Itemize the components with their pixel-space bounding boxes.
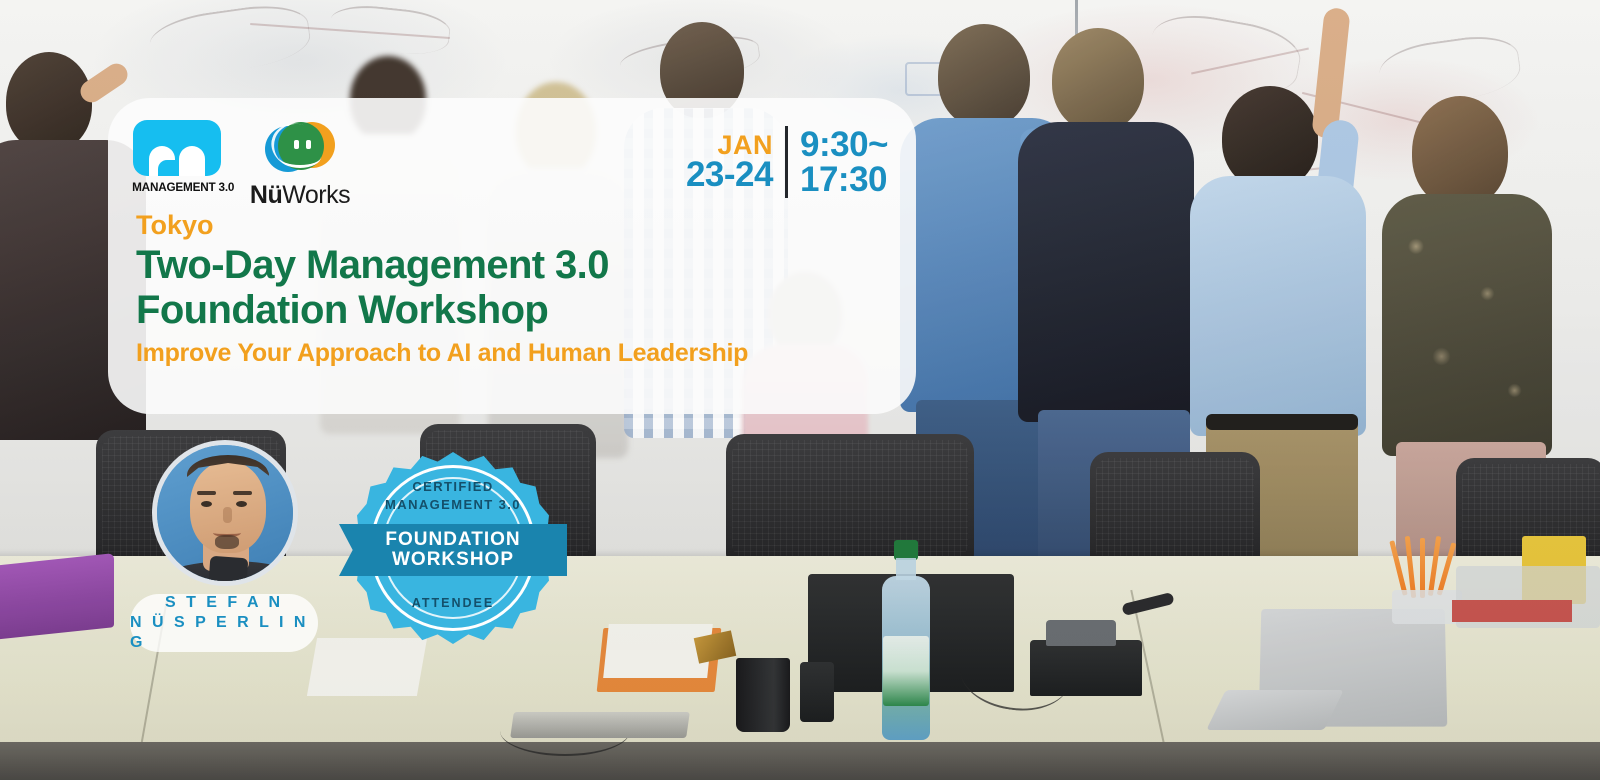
pen [1437,542,1457,595]
macbook-base [1206,690,1344,730]
coffee-mug [736,658,790,732]
event-title-line-1: Two-Day Management 3.0 [136,243,898,288]
office-chair [726,434,974,564]
person-head [938,24,1030,128]
management-30-wordmark: MANAGEMENT 3.0 [132,182,222,194]
certification-badge: CERTIFIED MANAGEMENT 3.0 FOUNDATION WORK… [357,452,549,644]
letter-m-glyph [149,142,205,176]
keyboard [510,712,690,738]
avatar-eye-right [236,501,247,507]
badge-top-text: CERTIFIED MANAGEMENT 3.0 [357,478,549,513]
event-start-time: 9:30~ [800,127,888,162]
avatar-collar [208,556,249,586]
badge-ribbon: FOUNDATION WORKSHOP [339,524,567,576]
red-folder [1452,600,1572,622]
bottle-cap [894,540,918,560]
nuworks-logo: NüWorks [245,120,355,208]
office-chair [1090,452,1260,570]
badge-certified-label: CERTIFIED [357,478,549,496]
avatar-eye-left [201,501,212,507]
avatar-goatee [215,535,239,549]
badge-attendee-label: ATTENDEE [357,596,549,610]
schedule-divider [785,126,788,198]
avatar-brow-right [233,491,252,495]
event-subtitle: Improve Your Approach to AI and Human Le… [136,339,898,368]
pen [1389,540,1407,596]
date-group: JAN 23-24 [686,132,773,193]
person-torso [1018,122,1194,422]
chair-mesh [1096,458,1254,564]
management-30-logo: MANAGEMENT 3.0 [133,120,221,194]
presenter-avatar [152,440,298,586]
avatar-brow-left [197,491,216,495]
presenter-first-name: S T E F A N [165,593,283,613]
power-adapter [1046,620,1116,646]
person-head [1052,28,1144,132]
nuworks-wordmark: NüWorks [245,183,355,208]
globe-smile [279,146,321,168]
nuworks-word-regular: Works [282,181,350,209]
person-belt [1206,414,1358,430]
person-head [1222,86,1318,190]
pen-cup [1390,536,1460,606]
person-head [1412,96,1508,208]
bottle-label [883,636,929,706]
presenter-nameplate: S T E F A N N Ü S P E R L I N G [130,594,318,652]
logo-row: MANAGEMENT 3.0 NüWorks [133,120,355,208]
camera-device [800,662,834,722]
presenter-last-name: N Ü S P E R L I N G [130,613,318,653]
white-paper-sheet [307,638,427,696]
schedule-block: JAN 23-24 9:30~ 17:30 [686,126,888,198]
chair-mesh [732,440,968,558]
event-title-line-2: Foundation Workshop [136,288,898,333]
pen [1420,538,1425,598]
time-group: 9:30~ 17:30 [800,127,888,197]
event-city: Tokyo [136,210,898,241]
person-head [6,52,92,152]
event-info-card: MANAGEMENT 3.0 NüWorks JAN 23-24 [108,98,916,414]
nuworks-word-bold: Nü [250,181,282,209]
event-end-time: 17:30 [800,162,888,197]
floor [0,742,1600,780]
badge-foundation-label: FOUNDATION [385,530,520,550]
event-text-block: Tokyo Two-Day Management 3.0 Foundation … [136,210,898,368]
workshop-promo-banner: MANAGEMENT 3.0 NüWorks JAN 23-24 [0,0,1600,780]
person-torso [1190,176,1366,436]
event-days: 23-24 [686,158,773,192]
purple-laptop [0,553,114,641]
water-bottle [880,540,932,740]
avatar-nose [223,507,232,523]
badge-management-label: MANAGEMENT 3.0 [357,496,549,514]
nuworks-globe-icon [265,120,335,178]
person-torso [1382,194,1552,456]
badge-workshop-label: WORKSHOP [392,550,514,570]
management-30-mark-icon [133,120,221,176]
